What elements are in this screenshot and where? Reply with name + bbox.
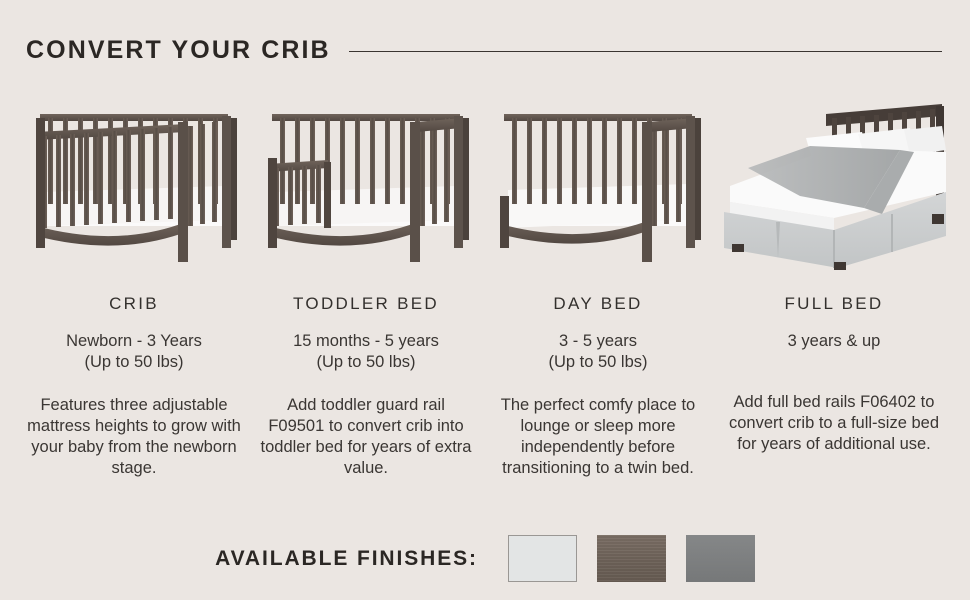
stage-card-crib: CRIB Newborn - 3 Years (Up to 50 lbs) Fe…	[18, 96, 250, 479]
day-bed-illustration	[482, 96, 714, 276]
stage-title-crib: CRIB	[109, 294, 159, 314]
stage-title-day-bed: DAY BED	[553, 294, 642, 314]
stage-age-day-bed: 3 - 5 years (Up to 50 lbs)	[548, 331, 647, 373]
stage-card-toddler-bed: TODDLER BED 15 months - 5 years (Up to 5…	[250, 96, 482, 479]
gray-finish-swatch[interactable]	[686, 535, 755, 582]
stage-description-toddler-bed: Add toddler guard rail F09501 to convert…	[259, 395, 474, 479]
stage-age-crib: Newborn - 3 Years (Up to 50 lbs)	[66, 331, 202, 373]
stage-age-toddler-bed: 15 months - 5 years (Up to 50 lbs)	[293, 331, 439, 373]
available-finishes-label: AVAILABLE FINISHES:	[215, 547, 478, 571]
stage-title-full-bed: FULL BED	[784, 294, 883, 314]
crib-figure	[18, 96, 250, 276]
stage-title-toddler-bed: TODDLER BED	[293, 294, 439, 314]
stage-description-day-bed: The perfect comfy place to lounge or sle…	[491, 395, 706, 479]
full-bed-illustration	[714, 96, 954, 276]
header-divider-rule	[349, 51, 942, 52]
toddler-bed-figure	[250, 96, 482, 276]
full-bed-figure	[714, 96, 954, 276]
page-title: CONVERT YOUR CRIB	[26, 38, 331, 63]
toddler-bed-illustration	[250, 96, 482, 276]
stage-age-full-bed: 3 years & up	[788, 331, 881, 352]
stage-card-day-bed: DAY BED 3 - 5 years (Up to 50 lbs) The p…	[482, 96, 714, 479]
white-finish-swatch[interactable]	[508, 535, 577, 582]
conversion-stages: CRIB Newborn - 3 Years (Up to 50 lbs) Fe…	[18, 96, 952, 479]
crib-illustration	[18, 96, 250, 276]
stage-card-full-bed: FULL BED 3 years & up Add full bed rails…	[714, 96, 954, 479]
day-bed-figure	[482, 96, 714, 276]
stage-description-full-bed: Add full bed rails F06402 to convert cri…	[727, 392, 942, 455]
stage-description-crib: Features three adjustable mattress heigh…	[27, 395, 242, 479]
page-header: CONVERT YOUR CRIB	[26, 30, 942, 70]
available-finishes-row: AVAILABLE FINISHES:	[0, 535, 970, 582]
wood-finish-swatch[interactable]	[597, 535, 666, 582]
